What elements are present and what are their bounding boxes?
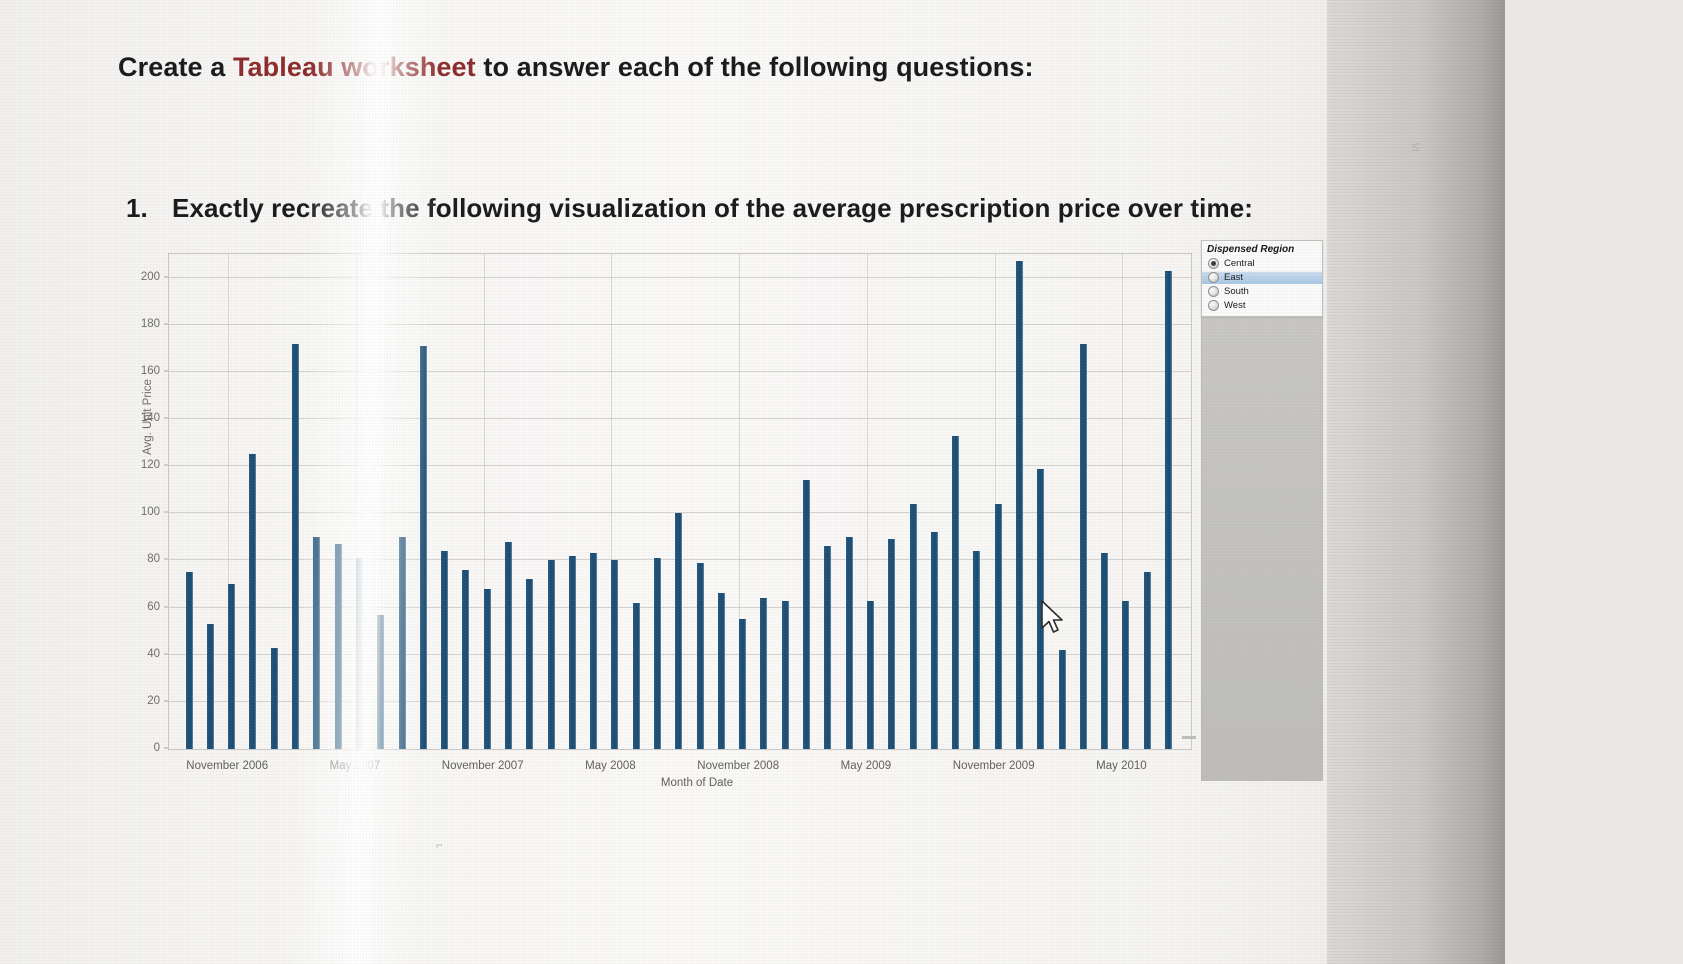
bar[interactable]	[1080, 344, 1087, 749]
question-text: Exactly recreate the following visualiza…	[172, 193, 1253, 224]
bar[interactable]	[760, 598, 767, 749]
y-axis-tick-label: 0	[154, 742, 160, 754]
x-axis-tick-label: May 2007	[330, 760, 381, 772]
y-axis-tick-mark	[164, 465, 168, 466]
y-axis-tick-mark	[164, 559, 168, 560]
bar[interactable]	[1165, 271, 1172, 750]
heading-pre-text: Create a	[118, 52, 233, 82]
chart-plot-area	[168, 253, 1192, 750]
bar[interactable]	[207, 624, 214, 749]
y-axis-tick-label: 80	[147, 553, 160, 565]
x-axis-tick-label: November 2009	[953, 760, 1035, 772]
bar[interactable]	[867, 601, 874, 750]
bar[interactable]	[633, 603, 640, 749]
bar[interactable]	[441, 551, 448, 749]
bar[interactable]	[697, 563, 704, 749]
bar[interactable]	[654, 558, 661, 749]
bar[interactable]	[356, 558, 363, 749]
bar[interactable]	[1101, 553, 1108, 749]
bar[interactable]	[824, 546, 831, 749]
bar[interactable]	[995, 504, 1002, 749]
bar[interactable]	[952, 436, 959, 750]
bar[interactable]	[462, 570, 469, 749]
radio-button-icon[interactable]	[1208, 286, 1219, 297]
bar[interactable]	[569, 556, 576, 749]
filter-option-label: East	[1224, 273, 1243, 283]
y-axis-tick-mark	[164, 370, 168, 371]
bar[interactable]	[931, 532, 938, 749]
bar[interactable]	[611, 560, 618, 749]
filter-option-central[interactable]: Central	[1202, 257, 1322, 270]
bar[interactable]	[249, 454, 256, 749]
bar[interactable]	[888, 539, 895, 749]
bar[interactable]	[1122, 601, 1129, 750]
filter-option-south[interactable]: South	[1202, 285, 1322, 298]
y-axis-tick-mark	[164, 323, 168, 324]
y-axis-tick-mark	[164, 418, 168, 419]
y-axis-tick-label: 100	[141, 506, 160, 518]
bar[interactable]	[782, 601, 789, 750]
y-axis-title: Avg. Unit Price	[142, 379, 154, 455]
bar[interactable]	[420, 346, 427, 749]
radio-button-icon[interactable]	[1208, 258, 1219, 269]
bar[interactable]	[484, 589, 491, 749]
filter-panel-body	[1201, 315, 1323, 781]
x-axis-title: Month of Date	[661, 777, 733, 789]
paper-smudge-mark-2: ≤	[1412, 138, 1420, 154]
bar[interactable]	[228, 584, 235, 749]
filter-option-label: Central	[1224, 259, 1255, 269]
filter-option-label: West	[1224, 301, 1245, 311]
y-axis-tick-mark	[164, 653, 168, 654]
filter-option-west[interactable]: West	[1202, 299, 1322, 312]
bar[interactable]	[718, 593, 725, 749]
radio-button-icon[interactable]	[1208, 300, 1219, 311]
heading-highlight-text: Tableau worksheet	[233, 52, 476, 82]
bar[interactable]	[910, 504, 917, 749]
bar[interactable]	[1059, 650, 1066, 749]
chart-bars-container	[169, 254, 1191, 749]
x-axis-tick-label: November 2007	[442, 760, 524, 772]
bar[interactable]	[335, 544, 342, 749]
scroll-nub[interactable]	[1182, 736, 1196, 739]
x-axis-tick-label: November 2006	[186, 760, 268, 772]
x-axis-tick-label: May 2010	[1096, 760, 1147, 772]
bar[interactable]	[271, 648, 278, 749]
y-axis-tick-mark	[164, 276, 168, 277]
bar[interactable]	[548, 560, 555, 749]
y-axis-tick-mark	[164, 606, 168, 607]
y-axis-tick-label: 120	[141, 459, 160, 471]
filter-option-east[interactable]: East	[1202, 271, 1322, 284]
bar[interactable]	[505, 542, 512, 749]
bar[interactable]	[803, 480, 810, 749]
bar[interactable]	[846, 537, 853, 749]
bar[interactable]	[526, 579, 533, 749]
page-heading: Create a Tableau worksheet to answer eac…	[118, 52, 1034, 83]
filter-title: Dispensed Region	[1207, 244, 1294, 255]
bar[interactable]	[377, 615, 384, 749]
bar[interactable]	[186, 572, 193, 749]
bar[interactable]	[399, 537, 406, 749]
x-axis-tick-label: May 2009	[841, 760, 892, 772]
bar[interactable]	[1144, 572, 1151, 749]
radio-button-icon[interactable]	[1208, 272, 1219, 283]
x-axis-tick-label: May 2008	[585, 760, 636, 772]
heading-post-text: to answer each of the following question…	[476, 52, 1034, 82]
bar[interactable]	[292, 344, 299, 749]
bar[interactable]	[313, 537, 320, 749]
paper-smudge-mark: ⌐	[436, 838, 443, 852]
question-number: 1.	[126, 193, 148, 224]
y-axis-tick-mark	[164, 748, 168, 749]
y-axis-tick-label: 20	[147, 695, 160, 707]
x-axis-tick-label: November 2008	[697, 760, 779, 772]
y-axis-tick-label: 180	[141, 318, 160, 330]
y-axis-tick-label: 160	[141, 365, 160, 377]
y-axis-tick-label: 40	[147, 648, 160, 660]
dispensed-region-filter-card[interactable]: Dispensed Region CentralEastSouthWest	[1201, 240, 1323, 317]
bar[interactable]	[590, 553, 597, 749]
y-axis-tick-label: 60	[147, 601, 160, 613]
filter-option-label: South	[1224, 287, 1249, 297]
bar[interactable]	[675, 513, 682, 749]
y-axis-tick-mark	[164, 700, 168, 701]
bar[interactable]	[739, 619, 746, 749]
bar[interactable]	[1016, 261, 1023, 749]
bar[interactable]	[973, 551, 980, 749]
y-axis-tick-mark	[164, 512, 168, 513]
mouse-cursor-icon	[1041, 600, 1067, 643]
y-axis-tick-label: 200	[141, 271, 160, 283]
